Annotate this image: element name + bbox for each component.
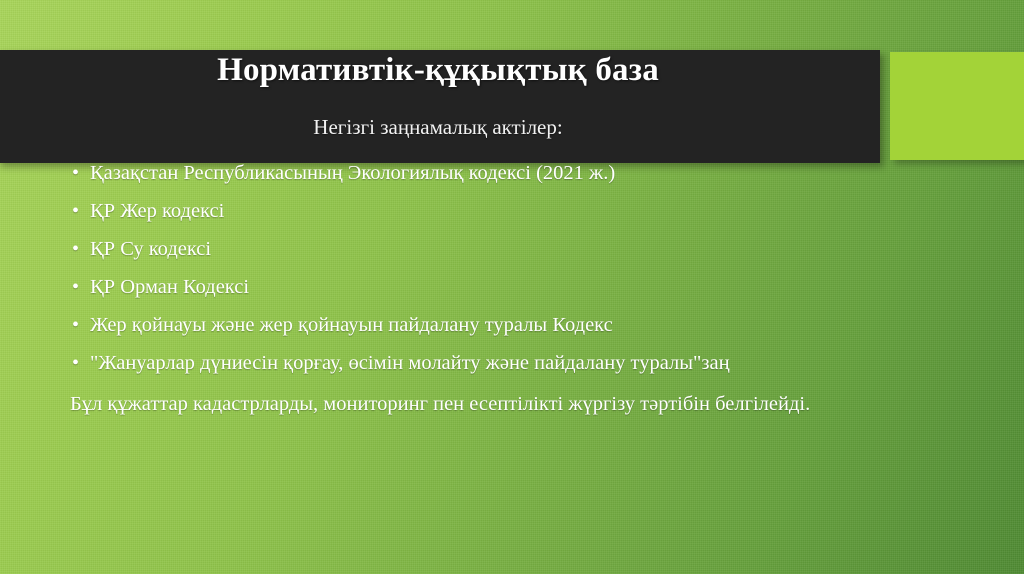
list-item: • ҚР Жер кодексі: [0, 192, 1024, 230]
page-title: Нормативтік-құқықтық база: [0, 52, 876, 88]
list-item-label: Қазақстан Республикасының Экологиялық ко…: [90, 154, 615, 192]
slide-canvas: Нормативтік-құқықтық база Негізгі заңнам…: [0, 0, 1024, 574]
list-item-label: "Жануарлар дүниесін қорғау, өсімін молай…: [90, 344, 730, 382]
list-item: • "Жануарлар дүниесін қорғау, өсімін мол…: [0, 344, 1024, 382]
bullet-marker-icon: •: [72, 306, 90, 344]
bullet-marker-icon: •: [72, 192, 90, 230]
list-item: • Қазақстан Республикасының Экологиялық …: [0, 154, 1024, 192]
list-item-label: ҚР Су кодексі: [90, 230, 211, 268]
bullet-marker-icon: •: [72, 154, 90, 192]
bullet-marker-icon: •: [72, 268, 90, 306]
accent-block: [890, 52, 1024, 160]
closing-paragraph: Бұл құжаттар кадастрларды, мониторинг пе…: [0, 388, 1024, 420]
list-item-label: ҚР Орман Кодексі: [90, 268, 249, 306]
slide-subtitle: Негізгі заңнамалық актілер:: [0, 115, 876, 140]
bullet-marker-icon: •: [72, 344, 90, 382]
list-item: • ҚР Орман Кодексі: [0, 268, 1024, 306]
bullet-list: • Қазақстан Республикасының Экологиялық …: [0, 154, 1024, 420]
list-item-label: Жер қойнауы және жер қойнауын пайдалану …: [90, 306, 613, 344]
bullet-marker-icon: •: [72, 230, 90, 268]
list-item: • ҚР Су кодексі: [0, 230, 1024, 268]
list-item-label: ҚР Жер кодексі: [90, 192, 224, 230]
list-item: • Жер қойнауы және жер қойнауын пайдалан…: [0, 306, 1024, 344]
